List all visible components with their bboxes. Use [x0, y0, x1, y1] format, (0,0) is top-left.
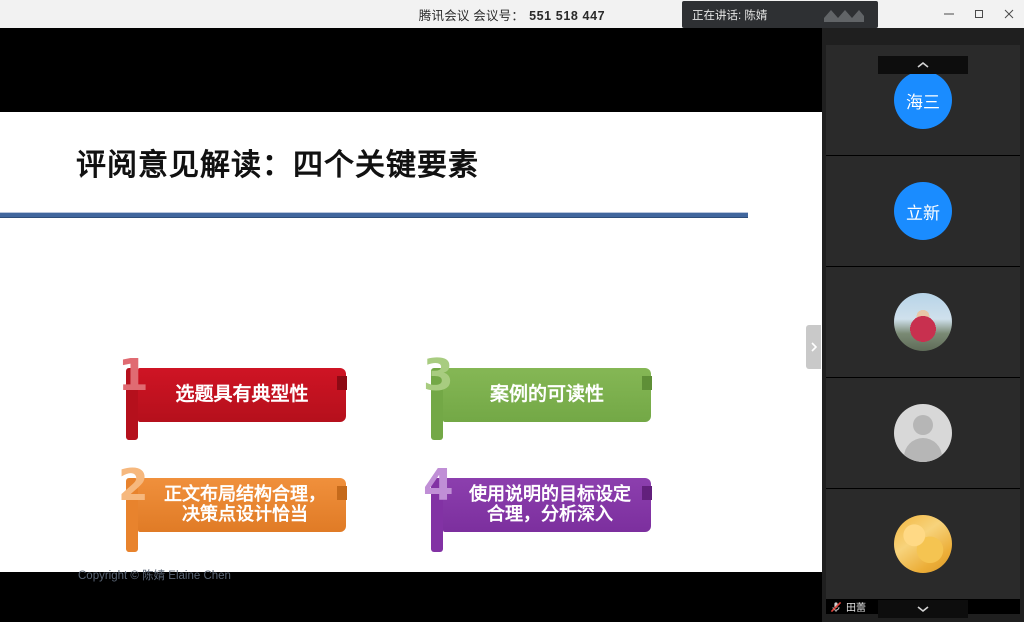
participant-tile[interactable]: 立新: [826, 156, 1020, 266]
avatar-body: [904, 438, 942, 462]
meeting-window: 腾讯会议 会议号：551 518 447 正在讲话: 陈婧 评阅意见解读：四个关…: [0, 0, 1024, 622]
app-title-label: 腾讯会议 会议号：: [419, 9, 524, 23]
box-1-text: 选题具有典型性: [175, 384, 308, 405]
box-1-number: 1: [118, 354, 149, 398]
chevron-up-icon: [916, 61, 930, 69]
box-4-text-line-1: 使用说明的目标设定: [469, 485, 631, 505]
chevron-right-icon: [810, 341, 818, 353]
ribbon-body: 正文布局结构合理， 决策点设计恰当: [138, 478, 346, 532]
ribbon-body: 案例的可读性: [443, 368, 651, 422]
meeting-number: 551 518 447: [529, 9, 605, 23]
key-element-box-1: 选题具有典型性 1: [110, 360, 342, 434]
avatar: [894, 293, 952, 351]
ribbon-notch: [337, 376, 347, 390]
shared-screen-stage: 评阅意见解读：四个关键要素 选题具有典型性 1 案例的可读性 3: [0, 28, 822, 622]
ribbon-notch: [642, 486, 652, 500]
participant-tile[interactable]: [826, 267, 1020, 377]
audio-wave-icon: [824, 7, 864, 22]
participant-name: 田蕾: [846, 599, 866, 614]
key-element-box-3: 案例的可读性 3: [415, 360, 647, 434]
minimize-button[interactable]: [934, 0, 964, 28]
scroll-down-button[interactable]: [878, 600, 968, 618]
ribbon-notch: [642, 376, 652, 390]
avatar: 立新: [894, 182, 952, 240]
ribbon-body: 使用说明的目标设定 合理，分析深入: [443, 478, 651, 532]
avatar-head: [913, 415, 933, 435]
presentation-slide: 评阅意见解读：四个关键要素 选题具有典型性 1 案例的可读性 3: [0, 112, 822, 572]
panel-collapse-handle[interactable]: [806, 325, 821, 369]
window-controls: [934, 0, 1024, 28]
chevron-down-icon: [916, 605, 930, 613]
slide-title: 评阅意见解读：四个关键要素: [76, 140, 479, 184]
key-element-box-2: 正文布局结构合理， 决策点设计恰当 2: [110, 470, 342, 546]
active-speaker-indicator: 正在讲话: 陈婧: [682, 1, 878, 28]
box-3-number: 3: [423, 354, 454, 398]
participant-tile[interactable]: [826, 378, 1020, 488]
scroll-up-button[interactable]: [878, 56, 968, 74]
avatar: [894, 515, 952, 573]
active-speaker-label: 正在讲话: 陈婧: [692, 7, 767, 23]
window-title: 腾讯会议 会议号：551 518 447: [419, 5, 605, 24]
participants-panel: 海三左海三立新潘立新付莉-Tr.Re.In.Co.KiFrank田蕾: [822, 28, 1024, 622]
participants-list[interactable]: 海三左海三立新潘立新付莉-Tr.Re.In.Co.KiFrank田蕾: [822, 28, 1024, 622]
slide-copyright: Copyright © 陈婧 Elaine Chen: [78, 567, 231, 583]
maximize-button[interactable]: [964, 0, 994, 28]
mic-muted-icon: [830, 601, 842, 613]
ribbon-body: 选题具有典型性: [138, 368, 346, 422]
close-button[interactable]: [994, 0, 1024, 28]
ribbon-notch: [337, 486, 347, 500]
participant-tile[interactable]: [826, 489, 1020, 599]
key-element-box-4: 使用说明的目标设定 合理，分析深入 4: [415, 470, 647, 546]
box-2-text-line-1: 正文布局结构合理，: [164, 485, 326, 505]
box-4-number: 4: [423, 464, 454, 508]
box-2-number: 2: [118, 464, 149, 508]
avatar: 海三: [894, 71, 952, 129]
box-2-text-line-2: 决策点设计恰当: [164, 505, 326, 525]
box-3-text: 案例的可读性: [490, 384, 604, 405]
box-4-text-line-2: 合理，分析深入: [469, 505, 631, 525]
title-divider: [0, 212, 748, 218]
avatar: [894, 404, 952, 462]
